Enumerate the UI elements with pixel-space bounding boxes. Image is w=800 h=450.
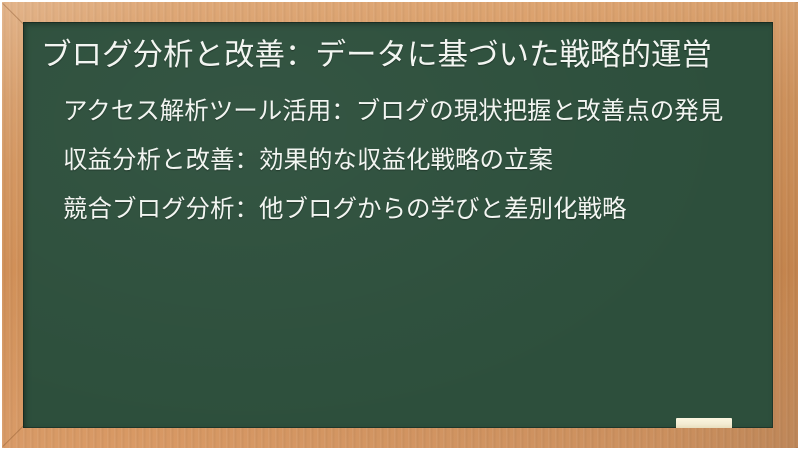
bullet-item-1: アクセス解析ツール活用：ブログの現状把握と改善点の発見 (63, 93, 757, 128)
frame-miter-bottom-right (796, 447, 798, 448)
bullet-item-2: 収益分析と改善：効果的な収益化戦略の立案 (63, 142, 757, 177)
chalk-stick-icon (676, 418, 732, 428)
chalkboard-surface: ブログ分析と改善：データに基づいた戦略的運営 アクセス解析ツール活用：ブログの現… (23, 22, 773, 428)
slide-content: ブログ分析と改善：データに基づいた戦略的運営 アクセス解析ツール活用：ブログの現… (35, 28, 763, 422)
bullet-list: アクセス解析ツール活用：ブログの現状把握と改善点の発見 収益分析と改善：効果的な… (35, 93, 763, 226)
bullet-item-3: 競合ブログ分析：他ブログからの学びと差別化戦略 (63, 191, 757, 226)
chalkboard-slide: ブログ分析と改善：データに基づいた戦略的運営 アクセス解析ツール活用：ブログの現… (0, 0, 800, 450)
slide-title: ブログ分析と改善：データに基づいた戦略的運営 (35, 28, 763, 77)
